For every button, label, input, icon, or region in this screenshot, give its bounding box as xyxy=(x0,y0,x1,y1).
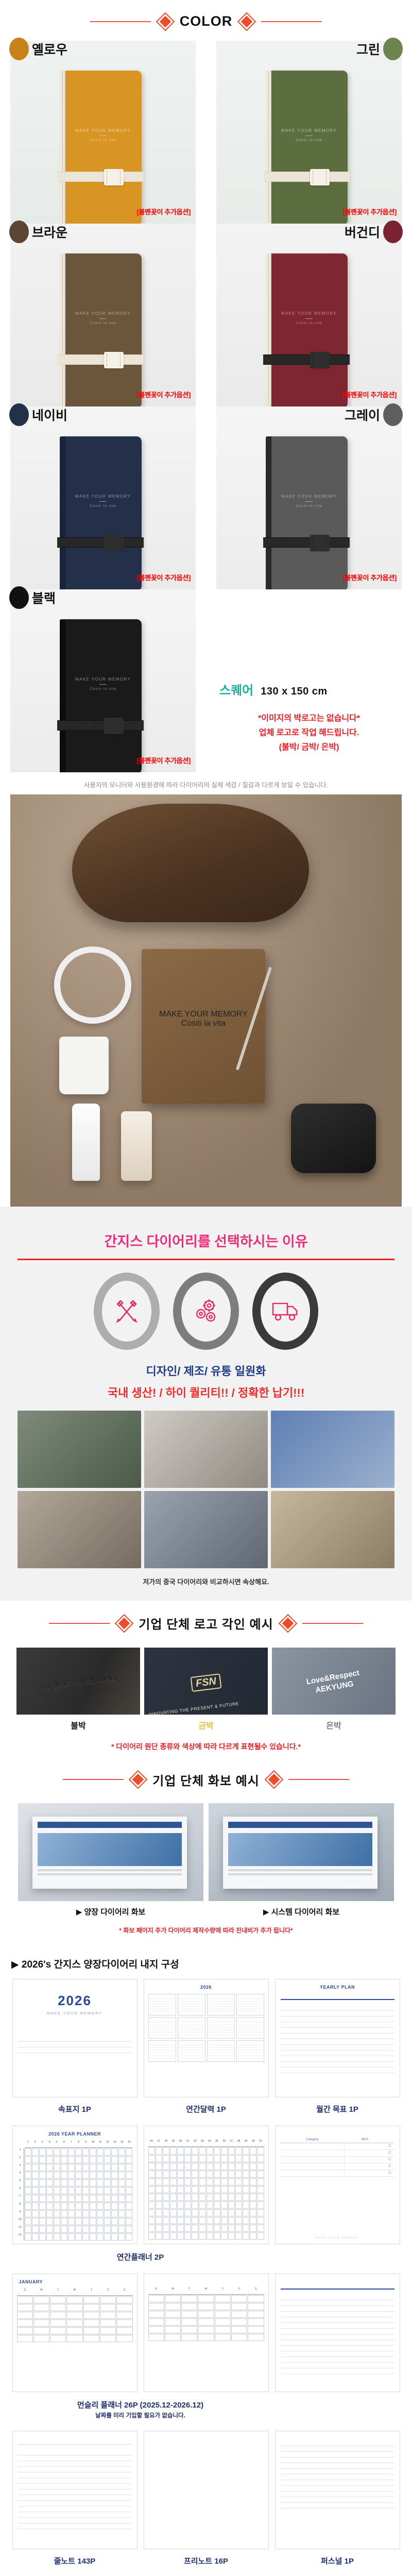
grid-cell xyxy=(163,2171,169,2178)
monthly-caption-range: (2025.12-2026.12) xyxy=(140,2401,203,2410)
grid-cell xyxy=(198,2295,214,2302)
grid-cell xyxy=(54,2164,60,2171)
grid-cell xyxy=(17,2296,33,2303)
grid-cell xyxy=(207,2186,213,2193)
grid-col-header: 10 xyxy=(90,2141,96,2148)
heading-rule-right xyxy=(288,1779,349,1780)
grid-cell xyxy=(184,2155,191,2162)
grid-cell xyxy=(207,2147,213,2155)
logo-example-row: 서울 영등포구 육아종합지원센터 불박 FSN INNOVATING THE P… xyxy=(0,1643,412,1731)
grid-cell xyxy=(181,2318,197,2326)
grid-cell xyxy=(82,2226,89,2233)
grid-cell xyxy=(39,2202,46,2210)
contents-row-3-captions: 먼슬리 플래너 26P (2025.12-2026.12) 날짜를 미리 기입할… xyxy=(0,2392,412,2431)
content-cell-weekly xyxy=(275,2274,400,2392)
grid-cell xyxy=(68,2156,75,2163)
book-spine xyxy=(266,71,271,224)
grid-cell xyxy=(221,2178,228,2185)
grid-cell xyxy=(231,2295,247,2302)
year-planner-title: 2026 YEAR PLANNER xyxy=(13,2126,137,2137)
swatch-label-green: 그린 xyxy=(356,38,403,60)
grid-cell xyxy=(25,2195,31,2202)
grid-col-header: 18 xyxy=(163,2140,169,2147)
logo-mark: 서울 영등포구 육아종합지원센터 xyxy=(40,1674,117,1691)
grid-col-header: 4 xyxy=(46,2141,53,2148)
grid-col-header: 19 xyxy=(170,2140,177,2147)
grid-cell xyxy=(39,2226,46,2233)
swatch-label-brown: 브라운 xyxy=(9,221,67,243)
emboss-line2: Cositi la vita xyxy=(64,504,142,508)
grid-cell xyxy=(257,2147,264,2155)
grid-cell xyxy=(104,2187,111,2194)
grid-col-header: 3 xyxy=(39,2141,46,2148)
diary-book-gray: MAKE YOUR MEMORY Cositi la vita xyxy=(270,436,348,589)
grid-cell xyxy=(163,2155,169,2162)
logo-mark-wrap: FSN xyxy=(190,1673,221,1692)
grid-cell xyxy=(181,2311,197,2318)
grid-cell xyxy=(214,2147,220,2155)
grid-cell xyxy=(32,2226,39,2233)
emboss-line1: MAKE YOUR MEMORY xyxy=(64,311,142,316)
col-wish: Wish xyxy=(345,2137,385,2143)
grid-cell xyxy=(50,2304,66,2311)
grid-cell xyxy=(199,2232,205,2240)
grid-cell xyxy=(46,2164,53,2171)
grid-cell xyxy=(100,2335,116,2342)
elastic-band xyxy=(263,172,350,182)
color-cell-yellow[interactable]: MAKE YOUR MEMORY Cositi la vita [볼펜꽂이 추가… xyxy=(0,41,206,224)
grid-cell xyxy=(228,2194,235,2201)
bucket-list-table: Category Wish ☐ ☐ ☐ ☐ ☐ xyxy=(280,2137,394,2177)
grid-cell xyxy=(61,2179,67,2187)
grid-cell xyxy=(170,2209,177,2216)
grid-cell xyxy=(257,2163,264,2170)
grid-cell xyxy=(104,2156,111,2163)
sheet-line xyxy=(38,1869,182,1871)
grid-cell xyxy=(66,2319,82,2327)
cover-emboss: MAKE YOUR MEMORY Cositi la vita xyxy=(270,494,348,508)
logo-caption-eunbak: 은박 xyxy=(272,1715,396,1731)
grid-cell xyxy=(235,2147,242,2155)
grid-cell xyxy=(192,2186,198,2193)
contents-heading: ▶ 2026's 간지스 양장다이어리 내지 구성 xyxy=(0,1941,412,1979)
reasons-icon-row xyxy=(0,1273,412,1353)
factory-photo xyxy=(271,1491,394,1568)
grid-cell xyxy=(68,2179,75,2187)
grid-col-header: 30 xyxy=(250,2140,256,2147)
grid-cell xyxy=(32,2179,39,2187)
grid-cell xyxy=(32,2172,39,2179)
emboss-line1: MAKE YOUR MEMORY xyxy=(270,494,348,499)
year-planner-grid-right: 16171819202122232425262728293031 xyxy=(148,2140,264,2240)
emboss-line2: Cositi la vita xyxy=(270,139,348,142)
grid-cell xyxy=(170,2217,177,2224)
grid-cell xyxy=(75,2148,82,2156)
grid-cell xyxy=(66,2312,82,2319)
elastic-band xyxy=(57,720,144,731)
paper-cup xyxy=(59,1037,109,1094)
page-preview-bucket-list: Category Wish ☐ ☐ ☐ ☐ ☐ MAKE YOUR MEMORY xyxy=(275,2126,400,2244)
grid-cell xyxy=(75,2218,82,2225)
sheet-picture xyxy=(228,1833,372,1866)
grid-cell xyxy=(250,2147,256,2155)
grid-col-header: W xyxy=(66,2289,82,2296)
grid-cell xyxy=(39,2172,46,2179)
page-preview-monthly-left: JANUARY SMTWTFS xyxy=(12,2274,138,2392)
grid-cell xyxy=(250,2163,256,2170)
grid-cell xyxy=(257,2225,264,2232)
grid-cell xyxy=(116,2335,132,2342)
color-cell-burgundy[interactable]: MAKE YOUR MEMORY Cositi la vita [볼펜꽂이 추가… xyxy=(206,224,412,406)
grid-cell xyxy=(165,2311,181,2318)
grid-cell xyxy=(97,2164,104,2171)
grid-cell xyxy=(184,2201,191,2209)
grid-cell xyxy=(214,2217,220,2224)
grid-col-header: 8 xyxy=(75,2141,82,2148)
yearly-plan-title: YEARLY PLAN xyxy=(276,1979,400,1990)
grid-cell xyxy=(177,2201,184,2209)
cover-emboss: MAKE YOUR MEMORY Cositi la vita xyxy=(64,128,142,142)
grid-cell xyxy=(170,2147,177,2155)
grid-cell xyxy=(100,2319,116,2327)
grid-cell xyxy=(97,2172,104,2179)
grid-cell xyxy=(148,2232,155,2240)
contents-row-4: 줄노트 143P 프리노트 16P 퍼스널 1P xyxy=(0,2431,412,2576)
table-header-row: Category Wish xyxy=(280,2137,394,2143)
grid-cell xyxy=(25,2202,31,2210)
grid-cell xyxy=(228,2163,235,2170)
grid-col-header: 2 xyxy=(32,2141,39,2148)
grid-col-header: 29 xyxy=(243,2140,249,2147)
catalog-heading-text: 기업 단체 화보 예시 xyxy=(152,1771,260,1789)
grid-cell xyxy=(214,2186,220,2193)
grid-col-header: 26 xyxy=(221,2140,228,2147)
grid-cell xyxy=(184,2209,191,2216)
grid-cell xyxy=(192,2232,198,2240)
grid-cell xyxy=(61,2226,67,2233)
grid-cell xyxy=(25,2233,31,2241)
band-buckle xyxy=(104,535,124,551)
grid-cell xyxy=(39,2187,46,2194)
grid-cell xyxy=(228,2232,235,2240)
factory-photo xyxy=(18,1411,141,1488)
contents-row-2: 2026 YEAR PLANNER 1234567891011121314151… xyxy=(0,2126,412,2244)
grid-cell xyxy=(228,2201,235,2209)
grid-cell xyxy=(156,2232,162,2240)
grid-cell xyxy=(126,2202,132,2210)
grid-cell xyxy=(215,2303,231,2310)
grid-cell xyxy=(235,2194,242,2201)
grid-cell xyxy=(250,2186,256,2193)
grid-cell xyxy=(148,2147,155,2155)
grid-cell xyxy=(177,2163,184,2170)
grid-cell xyxy=(46,2233,53,2241)
grid-cell xyxy=(148,2303,164,2310)
grid-col-header: 21 xyxy=(184,2140,191,2147)
grid-cell xyxy=(177,2171,184,2178)
factory-photo-row-1 xyxy=(0,1411,412,1488)
grid-cell xyxy=(163,2147,169,2155)
spare-note-line3: (불박/ 금박/ 은박) xyxy=(219,740,399,755)
grid-cell xyxy=(50,2296,66,2303)
grid-cell xyxy=(257,2194,264,2201)
grid-cell xyxy=(248,2295,264,2302)
grid-cell xyxy=(181,2334,197,2341)
grid-cell xyxy=(235,2201,242,2209)
grid-cell xyxy=(221,2147,228,2155)
swatch-dot xyxy=(383,38,403,60)
grid-cell xyxy=(75,2156,82,2163)
grid-cell xyxy=(75,2164,82,2171)
grid-cell xyxy=(100,2327,116,2334)
grid-cell xyxy=(46,2202,53,2210)
grid-col-header: S xyxy=(148,2287,164,2295)
monthly-caption-note: 날짜를 미리 기입할 필요가 없습니다. xyxy=(12,2410,269,2419)
grid-cell xyxy=(184,2163,191,2170)
book-spine xyxy=(60,436,65,589)
color-photo-brown: MAKE YOUR MEMORY Cositi la vita [볼펜꽂이 추가… xyxy=(10,224,196,406)
content-cell-free: 프리노트 16P xyxy=(144,2431,269,2576)
grid-cell xyxy=(165,2318,181,2326)
grid-cell xyxy=(198,2326,214,2333)
sheet-line xyxy=(228,1873,372,1875)
grid-cell xyxy=(118,2202,125,2210)
grid-cell xyxy=(221,2225,228,2232)
grid-col-header: 24 xyxy=(207,2140,213,2147)
color-photo-black: MAKE YOUR MEMORY Cositi la vita [볼펜꽂이 추가… xyxy=(10,589,196,772)
color-photo-navy: MAKE YOUR MEMORY Cositi la vita [볼펜꽂이 추가… xyxy=(10,406,196,589)
grid-cell xyxy=(170,2178,177,2185)
band-buckle xyxy=(310,352,330,368)
spare-info-cell: 스퀘어 130 x 150 cm *이미지의 박로고는 없습니다* 업체 로고로… xyxy=(206,589,412,772)
grid-cell xyxy=(39,2164,46,2171)
grid-cell xyxy=(148,2201,155,2209)
grid-cell xyxy=(165,2326,181,2333)
color-cell-gray[interactable]: MAKE YOUR MEMORY Cositi la vita [볼펜꽂이 추가… xyxy=(206,406,412,589)
grid-cell xyxy=(46,2218,53,2225)
grid-cell xyxy=(116,2327,132,2334)
grid-row-header: 5 xyxy=(17,2179,24,2187)
grid-cell xyxy=(231,2326,247,2333)
grid-cell xyxy=(170,2225,177,2232)
grid-cell xyxy=(243,2147,249,2155)
grid-cell xyxy=(235,2225,242,2232)
band-buckle xyxy=(310,535,330,551)
grid-cell xyxy=(177,2178,184,2185)
grid-cell xyxy=(116,2296,132,2303)
grid-cell xyxy=(156,2217,162,2224)
grid-cell xyxy=(163,2232,169,2240)
grid-cell xyxy=(32,2187,39,2194)
grid-cell xyxy=(248,2334,264,2341)
grid-cell xyxy=(25,2172,31,2179)
grid-cell xyxy=(61,2172,67,2179)
grid-cell xyxy=(248,2303,264,2310)
grid-cell xyxy=(32,2218,39,2225)
swatch-name: 옐로우 xyxy=(32,40,67,58)
emboss-dash xyxy=(305,135,313,136)
grid-cell xyxy=(90,2156,96,2163)
grid-cell xyxy=(126,2210,132,2217)
grid-cell xyxy=(214,2209,220,2216)
table-row: ☐ xyxy=(280,2163,394,2170)
grid-cell xyxy=(116,2304,132,2311)
grid-cell xyxy=(199,2178,205,2185)
color-photo-burgundy: MAKE YOUR MEMORY Cositi la vita [볼펜꽂이 추가… xyxy=(216,224,402,406)
grid-cell xyxy=(46,2156,53,2163)
grid-cell xyxy=(118,2179,125,2187)
color-cell-brown[interactable]: MAKE YOUR MEMORY Cositi la vita [볼펜꽂이 추가… xyxy=(0,224,206,406)
grid-cell xyxy=(177,2232,184,2240)
grid-cell xyxy=(177,2186,184,2193)
grid-cell xyxy=(97,2156,104,2163)
catalog-photo-hardcover xyxy=(18,1803,203,1901)
grid-cell xyxy=(199,2194,205,2201)
swatch-label-black: 블랙 xyxy=(9,586,56,609)
grid-cell xyxy=(228,2217,235,2224)
grid-cell xyxy=(192,2225,198,2232)
grid-cell xyxy=(126,2148,132,2156)
grid-cell xyxy=(250,2171,256,2178)
logo-section-heading: 기업 단체 로고 각인 예시 xyxy=(0,1601,412,1643)
month-block xyxy=(148,1994,176,2015)
grid-cell xyxy=(90,2195,96,2202)
elastic-band xyxy=(57,172,144,182)
swatch-name: 버건디 xyxy=(345,223,380,241)
grid-cell xyxy=(156,2186,162,2193)
swatch-name: 블랙 xyxy=(32,588,56,607)
emboss-dash xyxy=(99,501,107,502)
color-cell-green[interactable]: MAKE YOUR MEMORY Cositi la vita [볼펜꽂이 추가… xyxy=(206,41,412,224)
grid-cell xyxy=(126,2179,132,2187)
grid-cell xyxy=(32,2164,39,2171)
factory-photo xyxy=(144,1411,268,1488)
emboss-line1: MAKE YOUR MEMORY xyxy=(64,677,142,682)
year-planner-grid-left: 123456789101112131415123456789101112 xyxy=(17,2141,133,2241)
spare-dimension-row: 스퀘어 130 x 150 cm xyxy=(219,667,399,698)
grid-cell xyxy=(243,2225,249,2232)
grid-cell xyxy=(199,2155,205,2162)
book-spine xyxy=(60,619,65,772)
grid-cell xyxy=(221,2232,228,2240)
grid-cell xyxy=(231,2334,247,2341)
grid-cell xyxy=(50,2312,66,2319)
grid-cell xyxy=(177,2194,184,2201)
month-block xyxy=(178,2017,205,2039)
grid-cell xyxy=(118,2187,125,2194)
grid-cell xyxy=(184,2186,191,2193)
month-block xyxy=(236,1994,264,2015)
grid-cell xyxy=(97,2195,104,2202)
grid-col-header: 23 xyxy=(199,2140,205,2147)
bucket-list-title xyxy=(276,2126,400,2131)
page-preview-ruled xyxy=(12,2431,138,2549)
grid-cell xyxy=(75,2226,82,2233)
grid-cell xyxy=(148,2194,155,2201)
page-preview-yearly-plan: YEARLY PLAN xyxy=(275,1979,400,2097)
grid-cell xyxy=(177,2217,184,2224)
grid-cell xyxy=(126,2195,132,2202)
grid-col-header: M xyxy=(33,2289,49,2296)
grid-cell xyxy=(90,2187,96,2194)
bucket-list-footer: MAKE YOUR MEMORY xyxy=(276,2236,400,2240)
grid-cell xyxy=(75,2187,82,2194)
swatch-label-yellow: 옐로우 xyxy=(9,38,67,60)
grid-cell xyxy=(207,2178,213,2185)
logo-heading-text: 기업 단체 로고 각인 예시 xyxy=(139,1614,273,1632)
grid-cell xyxy=(192,2194,198,2201)
catalog-row: ▶ 양장 다이어리 화보 ▶ 시스템 다이어리 화보 xyxy=(0,1800,412,1917)
grid-cell xyxy=(156,2209,162,2216)
grid-cell xyxy=(199,2201,205,2209)
content-caption-free: 프리노트 16P xyxy=(144,2549,269,2576)
grid-cell xyxy=(75,2195,82,2202)
spare-name: 스퀘어 xyxy=(219,680,253,698)
grid-cell xyxy=(235,2155,242,2162)
cover-emboss: MAKE YOUR MEMORY Cositi la vita xyxy=(64,494,142,508)
grid-cell xyxy=(39,2218,46,2225)
swatch-name: 네이비 xyxy=(32,405,67,424)
color-cell-black[interactable]: MAKE YOUR MEMORY Cositi la vita [볼펜꽂이 추가… xyxy=(0,589,206,772)
grid-cell xyxy=(214,2155,220,2162)
color-section-heading: COLOR xyxy=(0,0,412,41)
content-caption-personal: 퍼스널 1P xyxy=(275,2549,400,2576)
grid-cell xyxy=(126,2164,132,2171)
logo-photo-eunbak: Love&Respect AEKYUNG xyxy=(272,1648,396,1715)
grid-cell xyxy=(61,2148,67,2156)
grid-col-header: 11 xyxy=(97,2141,104,2148)
grid-cell xyxy=(39,2210,46,2217)
grid-cell xyxy=(33,2304,49,2311)
emboss-line1: MAKE YOUR MEMORY xyxy=(270,311,348,316)
swatch-label-navy: 네이비 xyxy=(9,403,67,426)
grid-cell xyxy=(163,2209,169,2216)
grid-row-header: 4 xyxy=(17,2172,24,2179)
grid-cell xyxy=(199,2186,205,2193)
monitor-disclaimer: 사용자의 모니터와 사용환경에 따라 다이어리의 실제 색감 / 질감과 다르게… xyxy=(0,772,412,794)
grid-cell xyxy=(215,2318,231,2326)
grid-cell xyxy=(118,2148,125,2156)
grid-cell xyxy=(61,2218,67,2225)
swatch-label-burgundy: 버건디 xyxy=(345,221,403,243)
emboss-line2: Cositi la vita xyxy=(142,1019,265,1028)
color-cell-navy[interactable]: MAKE YOUR MEMORY Cositi la vita [볼펜꽂이 추가… xyxy=(0,406,206,589)
grid-cell xyxy=(82,2187,89,2194)
grid-cell xyxy=(235,2232,242,2240)
grid-cell xyxy=(90,2226,96,2233)
elastic-band xyxy=(263,537,350,548)
grid-cell xyxy=(214,2178,220,2185)
grid-cell xyxy=(82,2148,89,2156)
grid-cell xyxy=(39,2179,46,2187)
grid-cell xyxy=(82,2202,89,2210)
logo-card-bulbak: 서울 영등포구 육아종합지원센터 불박 xyxy=(16,1648,140,1731)
grid-cell xyxy=(163,2201,169,2209)
grid-cell xyxy=(170,2186,177,2193)
grid-row-header: 3 xyxy=(17,2164,24,2171)
grid-col-header: W xyxy=(198,2287,214,2295)
month-block xyxy=(207,2017,235,2039)
grid-cell xyxy=(207,2232,213,2240)
grid-cell xyxy=(25,2218,31,2225)
ruled-lines xyxy=(18,2450,132,2529)
grid-cell xyxy=(192,2178,198,2185)
grid-cell xyxy=(126,2218,132,2225)
grid-cell xyxy=(170,2201,177,2209)
grid-cell xyxy=(118,2210,125,2217)
grid-cell xyxy=(148,2155,155,2162)
badge-pen-option: [볼펜꽂이 추가옵션] xyxy=(136,572,191,582)
